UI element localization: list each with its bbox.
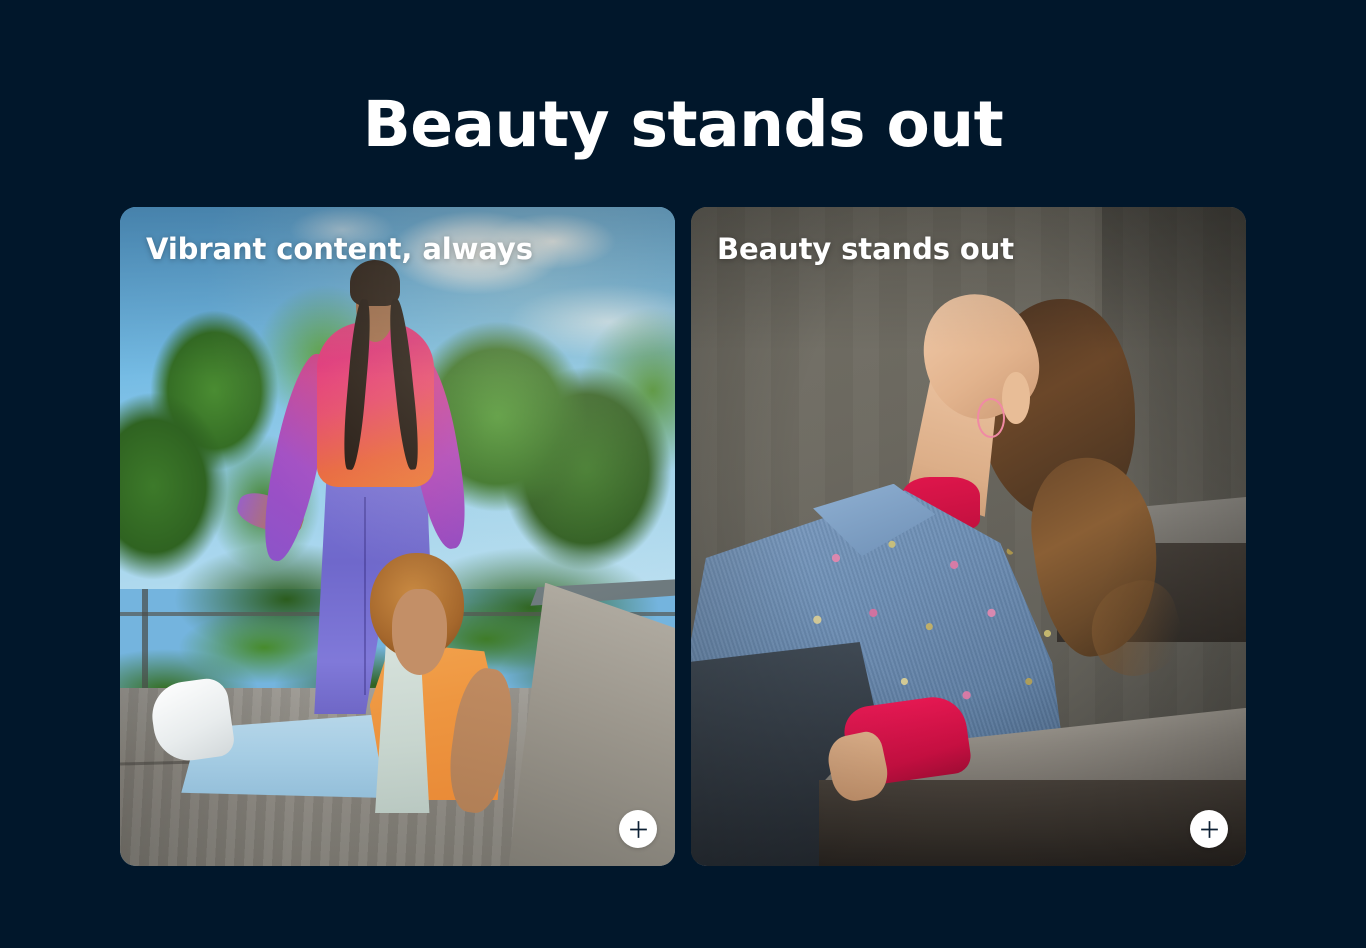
page-title: Beauty stands out <box>0 88 1366 162</box>
plus-icon <box>630 821 647 838</box>
card-title: Beauty stands out <box>717 231 1186 267</box>
card-grid: Vibrant content, always <box>120 207 1246 866</box>
image-top-shade <box>691 207 1246 352</box>
card-image-wall-portrait <box>691 207 1246 866</box>
content-card-beauty[interactable]: Beauty stands out <box>691 207 1246 866</box>
content-card-vibrant[interactable]: Vibrant content, always <box>120 207 675 866</box>
card-title: Vibrant content, always <box>146 231 615 267</box>
plus-icon <box>1201 821 1218 838</box>
card-image-rooftop <box>120 207 675 866</box>
add-button[interactable] <box>619 810 657 848</box>
add-button[interactable] <box>1190 810 1228 848</box>
page-root: Beauty stands out <box>0 0 1366 948</box>
